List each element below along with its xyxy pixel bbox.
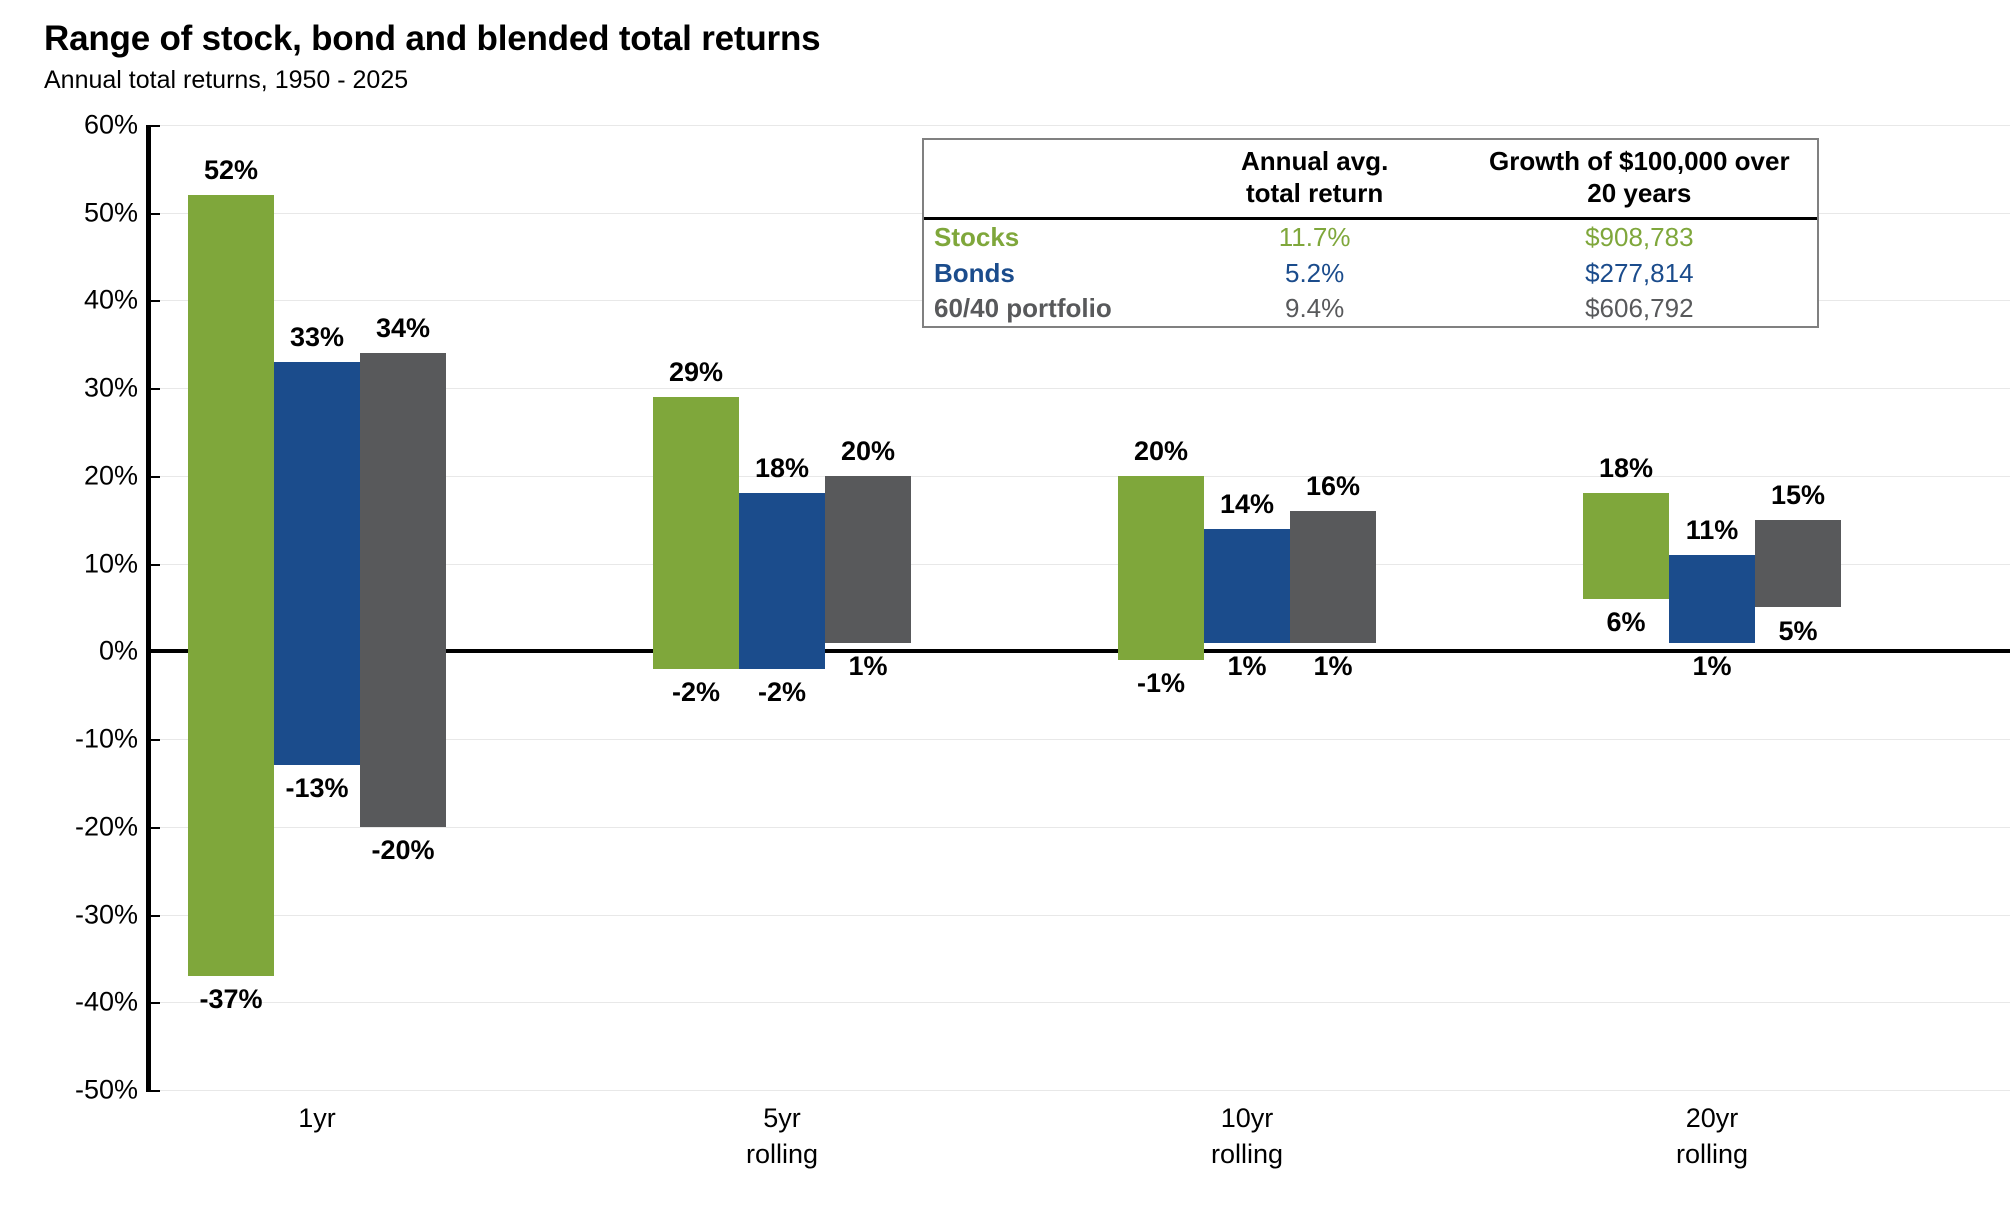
bar-stocks-1yr[interactable] [188,195,274,976]
bar-stocks-20yr[interactable] [1583,493,1669,598]
bar-max-label: 29% [623,359,769,386]
column-header-annual-avg-total-return: Annual avg. total return [1168,140,1462,219]
bar-max-label: 16% [1260,473,1406,500]
y-axis-tick-label: 20% [18,462,138,489]
page-subtitle: Annual total returns, 1950 - 2025 [44,67,820,95]
y-axis-tick-label: -40% [18,989,138,1016]
bar-60-40-portfolio-20yr[interactable] [1755,520,1841,608]
page-title: Range of stock, bond and blended total r… [44,20,820,59]
row-label-stocks: Stocks [924,219,1168,256]
bar-60-40-portfolio-10yr[interactable] [1290,511,1376,643]
y-axis-tick-label: 60% [18,112,138,139]
x-axis-group-label-5yr: 5yr rolling [746,1100,818,1173]
bar-max-label: 18% [1553,455,1699,482]
table-row: 60/40 portfolio 9.4% $606,792 [924,291,1817,326]
bar-max-label: 52% [158,157,304,184]
y-axis-tick-label: 50% [18,199,138,226]
chart-header: Range of stock, bond and blended total r… [44,20,820,94]
gridline [155,1090,2010,1091]
bar-max-label: 20% [795,438,941,465]
x-axis-group-label-1yr: 1yr [298,1100,336,1136]
bar-min-label: 1% [1260,653,1406,680]
table-row: Stocks 11.7% $908,783 [924,219,1817,256]
y-tick-mark [146,388,160,390]
bar-min-label: 1% [1639,653,1785,680]
bar-stocks-5yr[interactable] [653,397,739,669]
y-tick-mark [146,1090,160,1092]
gridline [155,915,2010,916]
y-tick-mark [146,915,160,917]
bar-min-label: -2% [709,679,855,706]
bar-min-label: -37% [158,986,304,1013]
bar-bonds-1yr[interactable] [274,362,360,766]
bar-bonds-10yr[interactable] [1204,529,1290,643]
y-axis-tick-label: -50% [18,1077,138,1104]
bar-max-label: 15% [1725,482,1871,509]
y-tick-mark [146,564,160,566]
y-tick-mark [146,739,160,741]
row-label-bonds: Bonds [924,256,1168,291]
bar-min-label: 1% [795,653,941,680]
y-axis-tick-label: 40% [18,287,138,314]
x-axis-group-label-10yr: 10yr rolling [1211,1100,1283,1173]
row-label-blended-portfolio: 60/40 portfolio [924,291,1168,326]
summary-stats-table: Annual avg. total return Growth of $100,… [922,138,1819,328]
cell-stocks-annual-avg: 11.7% [1168,219,1462,256]
bar-max-label: 20% [1088,438,1234,465]
column-header-growth-20-years: Growth of $100,000 over 20 years [1462,140,1817,219]
bar-min-label: -20% [330,837,476,864]
cell-bonds-annual-avg: 5.2% [1168,256,1462,291]
y-axis-line [146,125,151,1090]
y-axis-tick-label: -30% [18,901,138,928]
cell-blend-annual-avg: 9.4% [1168,291,1462,326]
cell-stocks-growth: $908,783 [1462,219,1817,256]
cell-blend-growth: $606,792 [1462,291,1817,326]
y-axis-tick-label: -20% [18,813,138,840]
bar-max-label: 34% [330,315,476,342]
y-tick-mark [146,300,160,302]
y-axis-tick-label: 30% [18,375,138,402]
column-header-name [924,140,1168,219]
y-tick-mark [146,827,160,829]
y-axis-tick-label: -10% [18,726,138,753]
y-tick-mark [146,213,160,215]
x-axis: 1yr5yr rolling10yr rolling20yr rolling [155,1100,2010,1220]
bar-60-40-portfolio-1yr[interactable] [360,353,446,827]
y-axis: 60%50%40%30%20%10%0%-10%-20%-30%-40%-50% [10,125,138,1090]
y-axis-tick-label: 10% [18,550,138,577]
y-axis-tick-label: 0% [18,638,138,665]
table-row: Bonds 5.2% $277,814 [924,256,1817,291]
y-tick-mark [146,476,160,478]
gridline [155,1002,2010,1003]
bar-bonds-5yr[interactable] [739,493,825,668]
table-header-row: Annual avg. total return Growth of $100,… [924,140,1817,219]
bar-60-40-portfolio-5yr[interactable] [825,476,911,643]
bar-min-label: 5% [1725,618,1871,645]
gridline [155,827,2010,828]
x-axis-group-label-20yr: 20yr rolling [1676,1100,1748,1173]
gridline [155,125,2010,126]
y-tick-mark [146,125,160,127]
cell-bonds-growth: $277,814 [1462,256,1817,291]
